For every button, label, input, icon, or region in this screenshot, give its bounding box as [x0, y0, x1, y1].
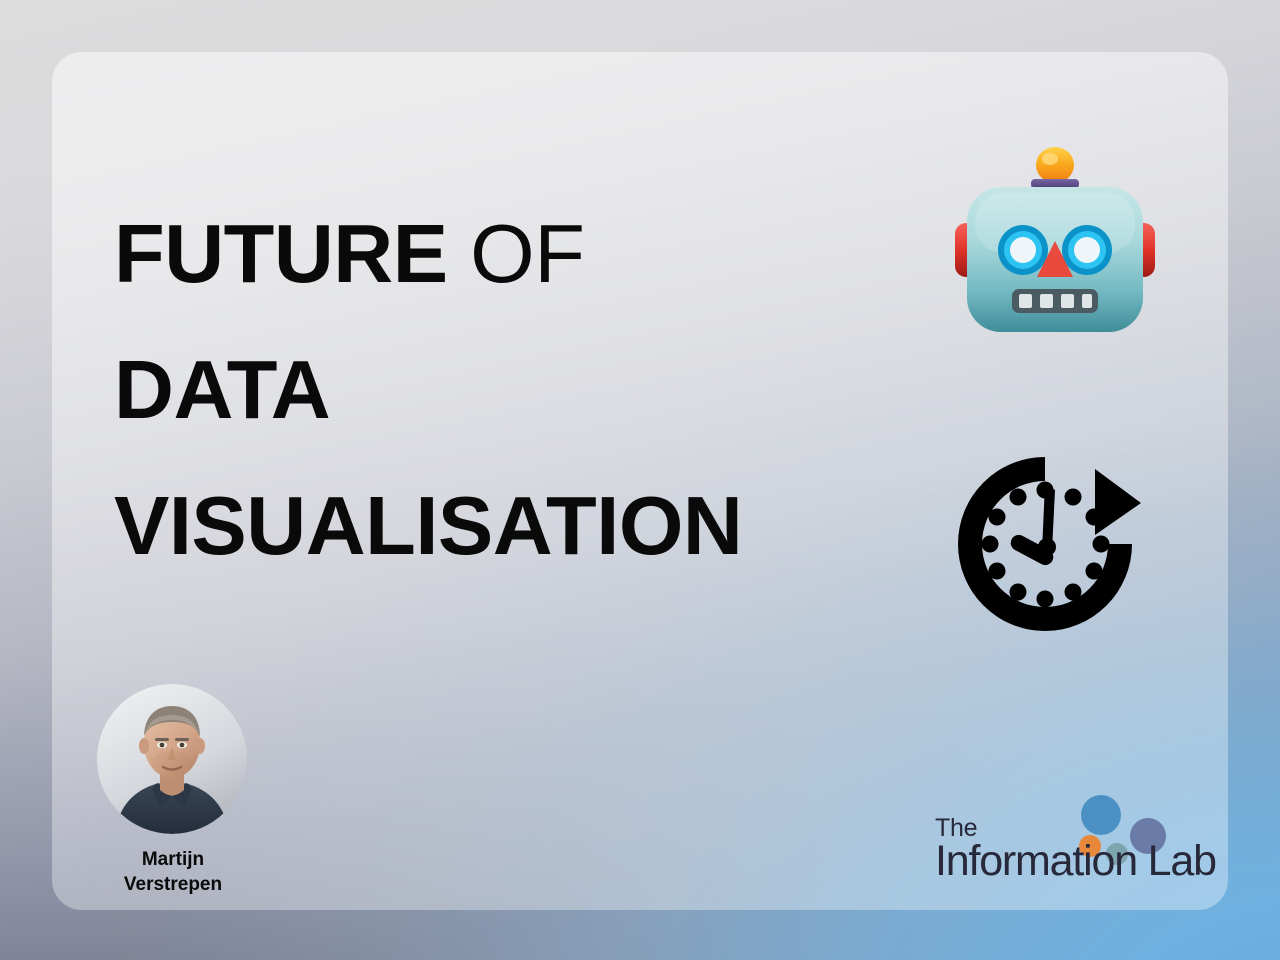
- title-line-1-normal: OF: [448, 207, 585, 300]
- title-line-1-bold: FUTURE: [114, 207, 448, 300]
- title-line-3-bold: VISUALISATION: [114, 479, 742, 572]
- presentation-slide: FUTURE OF DATA VISUALISATION: [0, 0, 1280, 960]
- information-lab-logo[interactable]: The Information Lab: [935, 794, 1225, 886]
- robot-icon: [955, 137, 1155, 342]
- presenter-last-name: Verstrepen: [97, 872, 249, 897]
- title-line-3: VISUALISATION: [114, 458, 934, 594]
- slide-title: FUTURE OF DATA VISUALISATION: [114, 186, 934, 594]
- title-line-2-bold: DATA: [114, 343, 330, 436]
- clock-history-svg: [945, 447, 1155, 642]
- logo-main-words: Information Lab: [935, 838, 1216, 884]
- presenter-first-name: Martijn: [97, 847, 249, 872]
- title-line-2: DATA: [114, 322, 934, 458]
- presenter-name: Martijn Verstrepen: [97, 847, 249, 897]
- title-line-1: FUTURE OF: [114, 186, 934, 322]
- avatar: [97, 684, 247, 834]
- avatar-photo: [97, 684, 247, 834]
- logo-text: The Information Lab: [935, 816, 1216, 884]
- clock-icon: [945, 447, 1155, 642]
- presenter-block: Martijn Verstrepen: [97, 684, 249, 897]
- robot-emoji-svg: [955, 137, 1155, 342]
